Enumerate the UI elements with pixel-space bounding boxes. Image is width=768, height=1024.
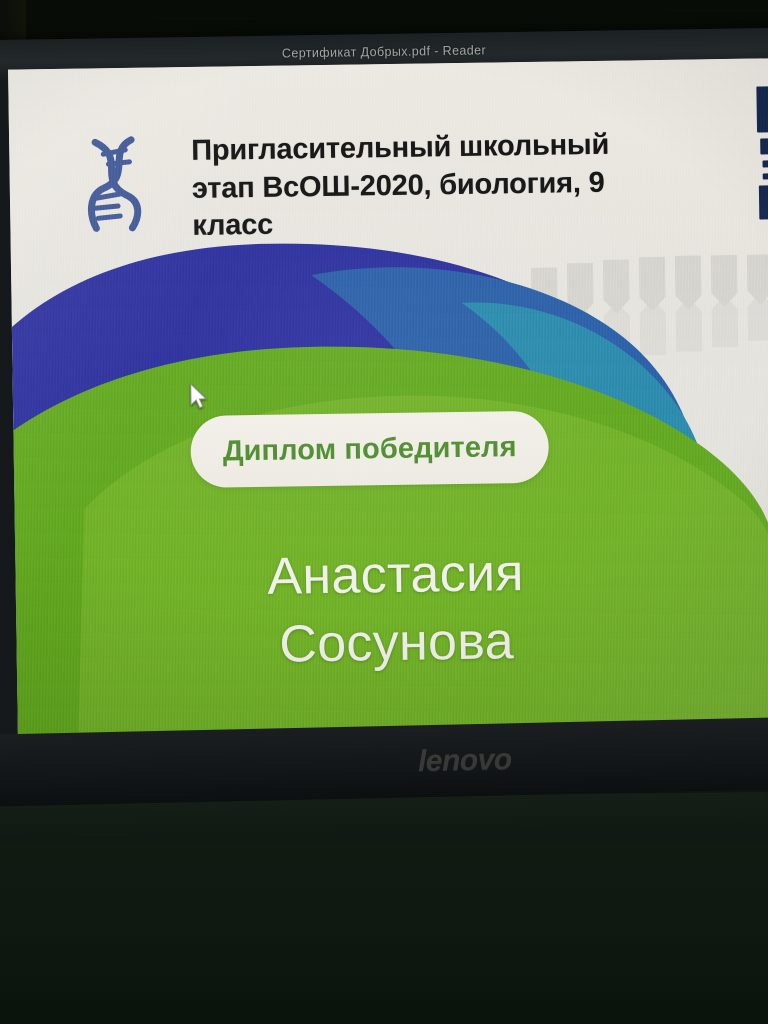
- certificate-title: Пригласительный школьный этап ВсОШ-2020,…: [191, 126, 663, 246]
- dna-helix-icon: [81, 136, 144, 233]
- recipient-first-name: Анастасия: [15, 536, 768, 615]
- toolbar-dot-2[interactable]: [763, 173, 768, 179]
- recipient-name: Анастасия Сосунова: [15, 536, 768, 682]
- toolbar-dot-1[interactable]: [762, 160, 768, 167]
- laptop-photo: Сертификат Добрых.pdf - Reader: [0, 0, 768, 1024]
- pdf-page: Пригласительный школьный этап ВсОШ-2020,…: [8, 58, 768, 741]
- reader-side-toolbar[interactable]: [756, 86, 768, 266]
- window-title-text: Сертификат Добрых.pdf - Reader: [282, 43, 486, 60]
- toolbar-button-2[interactable]: [760, 138, 768, 154]
- lenovo-brand-logo: lenovo: [418, 743, 512, 779]
- award-badge-label: Диплом победителя: [223, 431, 517, 468]
- laptop-screen: Пригласительный школьный этап ВсОШ-2020,…: [8, 58, 768, 741]
- mouse-pointer-icon: [189, 383, 209, 411]
- recipient-last-name: Сосунова: [16, 604, 768, 683]
- toolbar-button-1[interactable]: [756, 86, 768, 132]
- toolbar-button-3[interactable]: [759, 185, 768, 219]
- award-badge: Диплом победителя: [190, 411, 549, 488]
- certificate-header: Пригласительный школьный этап ВсОШ-2020,…: [8, 58, 768, 284]
